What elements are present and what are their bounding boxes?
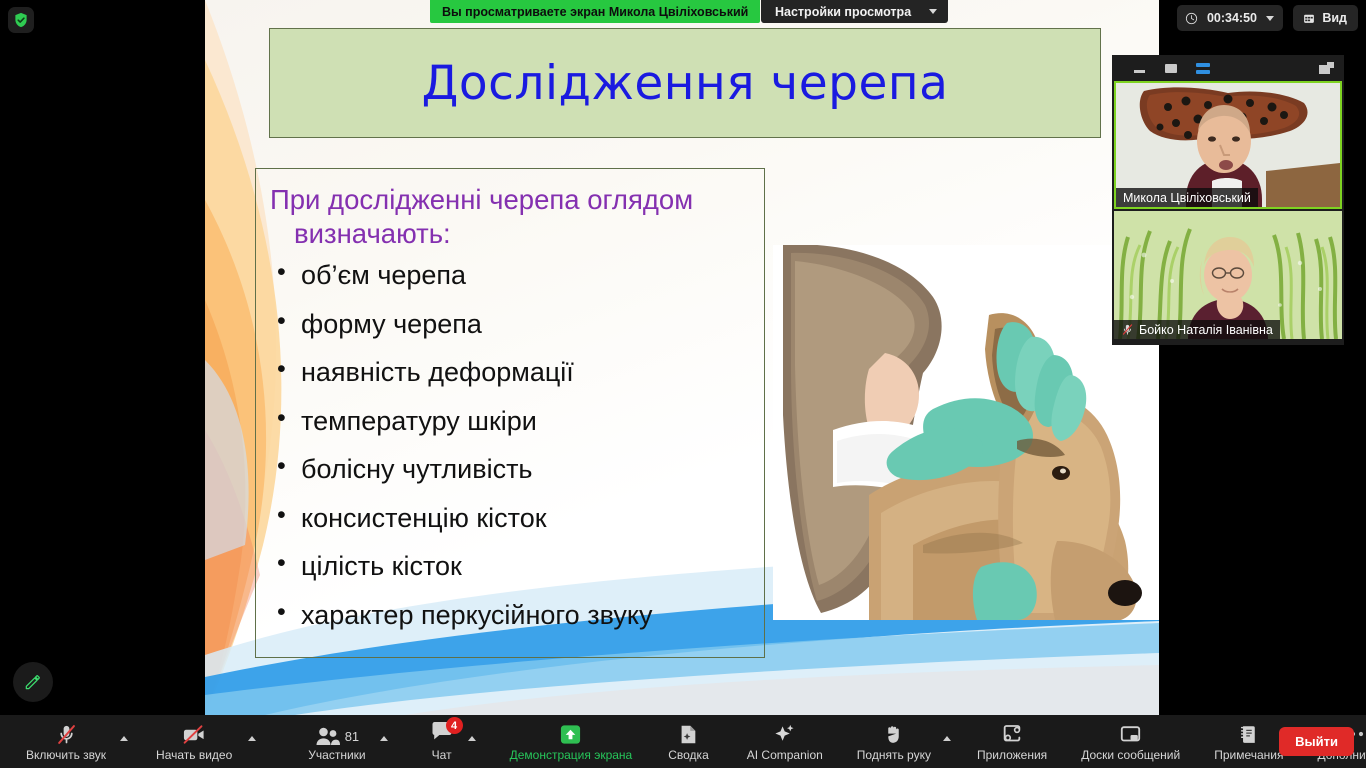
list-item: об’єм черепа: [266, 262, 752, 289]
view-settings-button[interactable]: Настройки просмотра: [761, 0, 948, 23]
leave-meeting-button[interactable]: Выйти: [1279, 727, 1354, 756]
toolbar-whiteboards-label: Доски сообщений: [1081, 749, 1180, 761]
microphone-muted-icon: [1121, 323, 1134, 336]
toolbar-chat-label: Чат: [432, 749, 452, 761]
toolbar-share-screen-button[interactable]: Демонстрация экрана: [506, 715, 637, 768]
toolbar-start-video-label: Начать видео: [156, 749, 232, 761]
list-item: характер перкусійного звуку: [266, 602, 752, 629]
shield-check-icon: [12, 11, 30, 29]
reactions-options-caret[interactable]: [943, 715, 951, 768]
list-item: болісну чутливість: [266, 456, 752, 483]
toolbar-ai-companion-button[interactable]: AI Companion: [743, 715, 827, 768]
slide-lead-line1: При дослідженні черепа оглядом: [270, 184, 693, 215]
apps-icon: [1000, 722, 1024, 746]
toolbar-participants-label: Участники: [308, 749, 365, 761]
video-tile-participant[interactable]: Бойко Наталія Іванівна: [1114, 211, 1342, 339]
chat-unread-badge: 4: [446, 717, 463, 734]
toolbar-start-video-button[interactable]: Начать видео: [152, 715, 236, 768]
video-tile-name-badge: Бойко Наталія Іванівна: [1114, 320, 1280, 339]
minimize-icon[interactable]: [1130, 59, 1148, 77]
slide-lead-line2: визначають:: [270, 217, 752, 251]
presentation-slide: Дослідження черепа При дослідженні череп…: [205, 0, 1159, 715]
video-panel-controls: [1112, 55, 1344, 81]
video-tile-active-speaker[interactable]: Микола Цвіліховський: [1114, 81, 1342, 209]
picture-in-picture-icon[interactable]: [1317, 59, 1335, 77]
list-item: цілість кісток: [266, 553, 752, 580]
toolbar-summary-button[interactable]: Сводка: [664, 715, 713, 768]
participants-icon: 81: [315, 722, 359, 746]
toolbar-raise-hand-label: Поднять руку: [857, 749, 931, 761]
chevron-up-icon: [468, 736, 476, 741]
chevron-down-icon: [1266, 16, 1274, 21]
list-item: форму черепа: [266, 311, 752, 338]
toolbar-apps-label: Приложения: [977, 749, 1047, 761]
toolbar-share-screen-label: Демонстрация экрана: [510, 749, 633, 761]
chat-options-caret[interactable]: [468, 715, 476, 768]
toolbar-unmute-button[interactable]: Включить звук: [22, 715, 110, 768]
share-screen-icon: [558, 722, 583, 746]
toolbar-raise-hand-button[interactable]: Поднять руку: [853, 715, 935, 768]
slide-lead-text: При дослідженні черепа оглядом визначают…: [266, 179, 752, 256]
screen-share-notice: Вы просматриваете экран Микола Цвіліховс…: [430, 0, 760, 23]
audio-options-caret[interactable]: [120, 715, 128, 768]
participants-options-caret[interactable]: [380, 715, 388, 768]
clock-icon: [1185, 12, 1198, 25]
toolbar-apps-button[interactable]: Приложения: [973, 715, 1051, 768]
chevron-up-icon: [943, 736, 951, 741]
view-settings-label: Настройки просмотра: [775, 5, 911, 19]
microphone-muted-icon: [55, 722, 78, 746]
list-item: температуру шкіри: [266, 408, 752, 435]
toolbar-unmute-label: Включить звук: [26, 749, 106, 761]
toolbar-chat-button[interactable]: 4 Чат: [426, 715, 458, 768]
raise-hand-icon: [883, 722, 904, 746]
ai-sparkle-icon: [772, 722, 797, 746]
chat-icon: 4: [430, 722, 454, 746]
summary-icon: [677, 722, 699, 746]
toolbar-ai-companion-label: AI Companion: [747, 749, 823, 761]
page-title: Дослідження черепа: [422, 56, 949, 111]
view-layout-label: Вид: [1322, 11, 1347, 25]
chevron-down-icon: [929, 9, 937, 14]
zoom-meeting-window: Дослідження черепа При дослідженні череп…: [0, 0, 1366, 768]
video-thumbnail-panel: Микола Цвіліховський: [1112, 55, 1344, 345]
single-view-icon[interactable]: [1162, 59, 1180, 77]
toolbar-notes-label: Примечания: [1214, 749, 1283, 761]
slide-bullet-list: об’єм черепа форму черепа наявність дефо…: [266, 262, 752, 629]
participant-name: Микола Цвіліховський: [1123, 191, 1251, 205]
slide-title-box: Дослідження черепа: [269, 28, 1101, 138]
leave-meeting-label: Выйти: [1295, 734, 1338, 749]
video-off-icon: [181, 722, 207, 746]
meeting-toolbar: Включить звук Начать видео: [0, 715, 1366, 768]
toolbar-participants-button[interactable]: 81 Участники: [304, 715, 369, 768]
meeting-timer-value: 00:34:50: [1207, 11, 1257, 25]
video-options-caret[interactable]: [248, 715, 256, 768]
list-item: консистенцію кісток: [266, 505, 752, 532]
pencil-icon: [23, 672, 43, 692]
chevron-up-icon: [120, 736, 128, 741]
annotate-pencil-button[interactable]: [13, 662, 53, 702]
chevron-up-icon: [248, 736, 256, 741]
calendar-icon: [1302, 12, 1316, 25]
screen-share-notice-label: Вы просматриваете экран Микола Цвіліховс…: [442, 5, 748, 19]
slide-body-box: При дослідженні черепа оглядом визначают…: [255, 168, 765, 658]
split-view-icon[interactable]: [1194, 59, 1212, 77]
toolbar-notes-button[interactable]: Примечания: [1210, 715, 1287, 768]
video-tile-name-badge: Микола Цвіліховський: [1116, 188, 1258, 207]
view-layout-button[interactable]: Вид: [1293, 5, 1358, 31]
top-bar: Вы просматриваете экран Микола Цвіліховс…: [0, 0, 1366, 24]
toolbar-summary-label: Сводка: [668, 749, 709, 761]
security-shield-button[interactable]: [8, 7, 34, 33]
notes-icon: [1238, 722, 1260, 746]
veterinarian-examining-dog-photo: [773, 245, 1159, 620]
participants-count: 81: [345, 729, 359, 744]
meeting-timer[interactable]: 00:34:50: [1177, 5, 1283, 31]
whiteboard-icon: [1118, 722, 1143, 746]
chevron-up-icon: [380, 736, 388, 741]
toolbar-whiteboards-button[interactable]: Доски сообщений: [1077, 715, 1184, 768]
participant-name: Бойко Наталія Іванівна: [1139, 323, 1273, 337]
list-item: наявність деформації: [266, 359, 752, 386]
